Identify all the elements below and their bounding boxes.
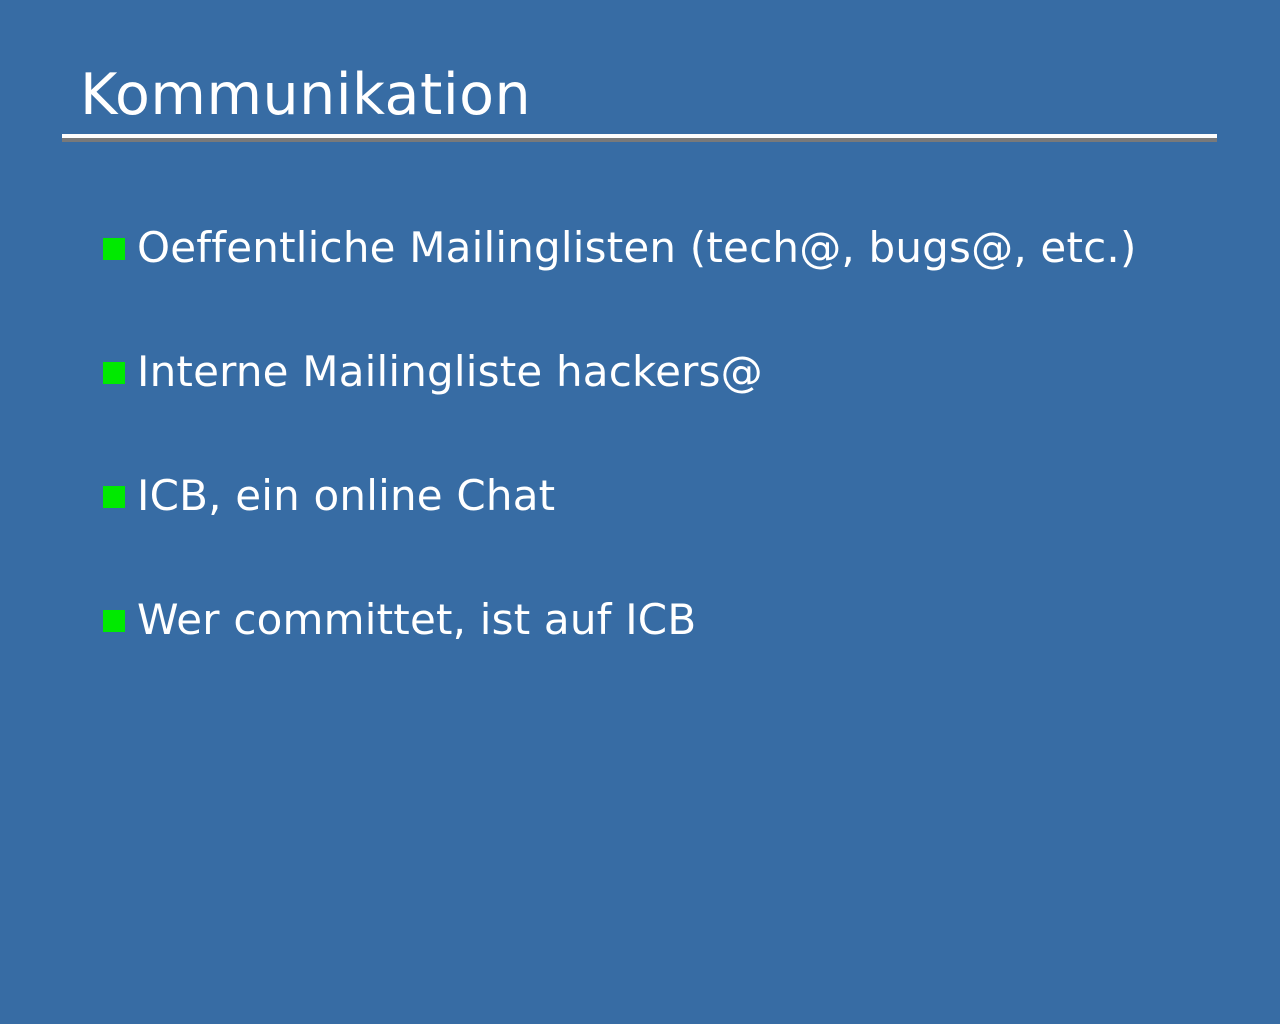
page-title: Kommunikation bbox=[62, 62, 1217, 128]
list-item: Wer committet, ist auf ICB bbox=[103, 588, 1223, 712]
green-square-bullet-icon bbox=[103, 238, 125, 260]
list-item-label: Oeffentliche Mailinglisten (tech@, bugs@… bbox=[137, 216, 1223, 280]
list-item: Oeffentliche Mailinglisten (tech@, bugs@… bbox=[103, 216, 1223, 340]
green-square-bullet-icon bbox=[103, 362, 125, 384]
list-item-label: ICB, ein online Chat bbox=[137, 464, 1223, 528]
green-square-bullet-icon bbox=[103, 486, 125, 508]
presentation-slide: Kommunikation Oeffentliche Mailinglisten… bbox=[0, 0, 1280, 1024]
green-square-bullet-icon bbox=[103, 610, 125, 632]
bullet-list: Oeffentliche Mailinglisten (tech@, bugs@… bbox=[103, 216, 1223, 712]
list-item-label: Wer committet, ist auf ICB bbox=[137, 588, 1223, 652]
slide-title-block: Kommunikation bbox=[62, 62, 1217, 142]
list-item: ICB, ein online Chat bbox=[103, 464, 1223, 588]
title-underline-shadow bbox=[62, 138, 1217, 142]
list-item-label: Interne Mailingliste hackers@ bbox=[137, 340, 1223, 404]
list-item: Interne Mailingliste hackers@ bbox=[103, 340, 1223, 464]
